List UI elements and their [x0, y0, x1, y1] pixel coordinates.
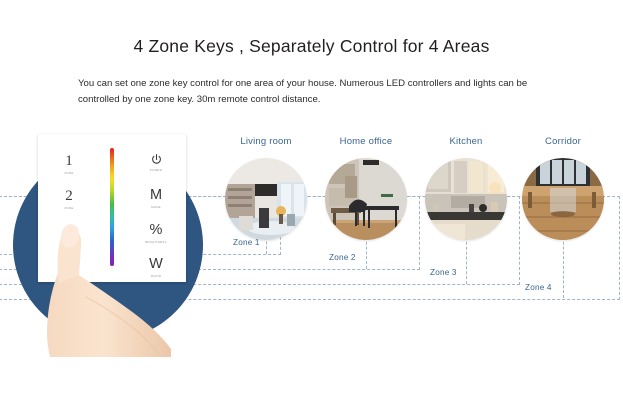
white-sublabel: WHITE: [134, 274, 178, 278]
mode-glyph: M: [134, 188, 178, 203]
white-glyph: W: [134, 257, 178, 272]
touch-panel-illustration: 1 ZONE 2 ZONE 3 ZONE 4 ZONE: [0, 132, 215, 357]
brightness-sublabel: BRIGHTNESS: [134, 240, 178, 244]
zone-key-column: 1 ZONE 2 ZONE 3 ZONE 4 ZONE: [48, 134, 90, 282]
zone-key-3-sublabel: ZONE: [48, 241, 90, 245]
zone-key-3[interactable]: 3 ZONE: [48, 224, 90, 245]
room-label-kitchen: Kitchen: [425, 136, 507, 147]
zone-label-4: Zone 4: [523, 283, 554, 292]
function-key-column: POWER M MODE % BRIGHTNESS W WHITE: [134, 134, 178, 282]
power-icon: [134, 153, 178, 166]
room-label-living-room: Living room: [225, 136, 307, 147]
zone-key-1-glyph: 1: [48, 154, 90, 169]
zone-key-4-sublabel: ZONE: [48, 275, 90, 279]
brightness-glyph: %: [134, 223, 178, 238]
power-sublabel: POWER: [134, 168, 178, 172]
zone-key-4[interactable]: 4 ZONE: [48, 258, 90, 279]
mode-button[interactable]: M MODE: [134, 188, 178, 209]
mode-sublabel: MODE: [134, 205, 178, 209]
zone-key-3-glyph: 3: [48, 224, 90, 239]
zone-key-2-sublabel: ZONE: [48, 206, 90, 210]
white-button[interactable]: W WHITE: [134, 257, 178, 278]
zone-label-3: Zone 3: [428, 268, 459, 277]
room-photo-kitchen: [425, 158, 507, 240]
page-root: 4 Zone Keys , Separately Control for 4 A…: [0, 0, 623, 404]
zone-key-1-sublabel: ZONE: [48, 171, 90, 175]
brightness-button[interactable]: % BRIGHTNESS: [134, 223, 178, 244]
zone-key-1[interactable]: 1 ZONE: [48, 154, 90, 175]
room-corridor[interactable]: Corridor: [522, 158, 604, 240]
room-photo-corridor: [522, 158, 604, 240]
zone-label-2: Zone 2: [327, 253, 358, 262]
zone-key-2-glyph: 2: [48, 189, 90, 204]
zone-key-4-glyph: 4: [48, 258, 90, 273]
color-slider[interactable]: [110, 148, 114, 266]
room-photo-home-office: [325, 158, 407, 240]
room-label-home-office: Home office: [325, 136, 407, 147]
zone-key-2[interactable]: 2 ZONE: [48, 189, 90, 210]
room-kitchen[interactable]: Kitchen: [425, 158, 507, 240]
zone-connector-4: [563, 232, 564, 298]
room-living-room[interactable]: Living room: [225, 158, 307, 240]
touch-panel[interactable]: 1 ZONE 2 ZONE 3 ZONE 4 ZONE: [38, 134, 186, 282]
room-label-corridor: Corridor: [522, 136, 604, 147]
room-home-office[interactable]: Home office: [325, 158, 407, 240]
room-photo-living-room: [225, 158, 307, 240]
power-button[interactable]: POWER: [134, 153, 178, 172]
